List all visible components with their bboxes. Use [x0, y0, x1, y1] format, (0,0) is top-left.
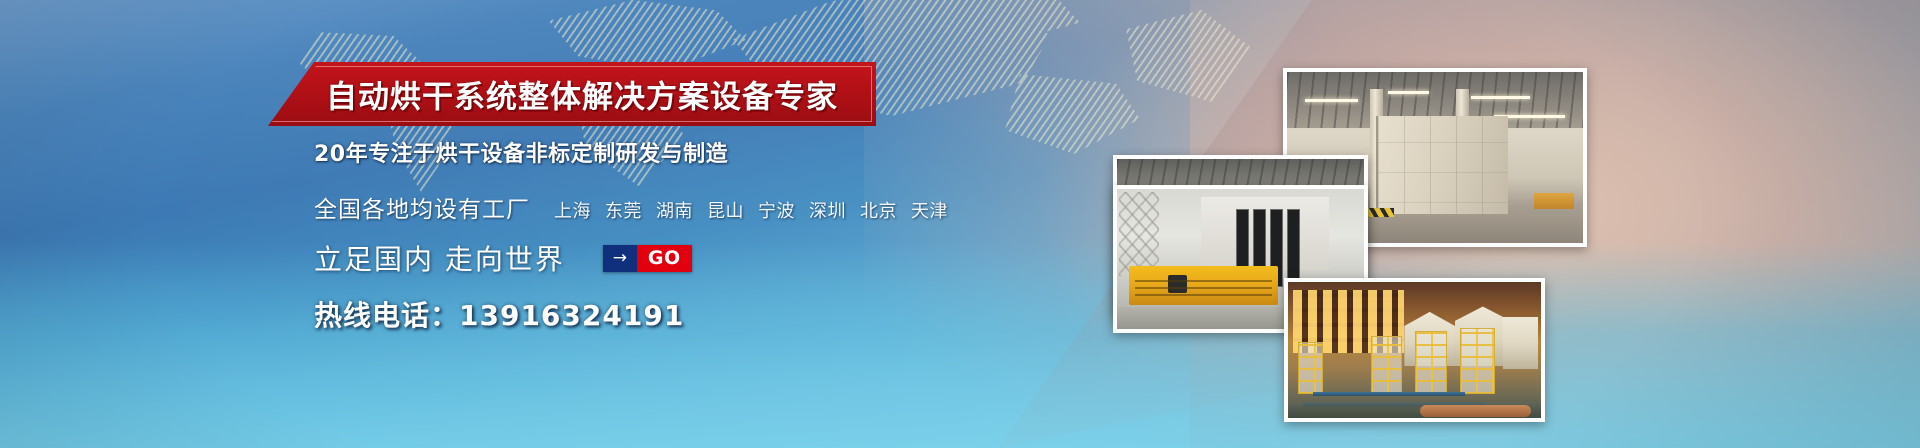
city-item: 北京	[860, 197, 897, 223]
photo-production-line	[1284, 278, 1545, 422]
photo-detail-cage	[1415, 331, 1448, 394]
city-item: 天津	[911, 197, 948, 223]
city-item: 宁波	[758, 197, 795, 223]
go-button[interactable]: → GO	[603, 245, 692, 272]
photo-detail-lamp	[1388, 91, 1429, 94]
photo-detail-cart-panel	[1168, 275, 1187, 293]
subheadline-text: 20年专注于烘干设备非标定制研发与制造	[314, 136, 1034, 168]
city-item: 湖南	[656, 197, 693, 223]
factories-title: 全国各地均设有工厂	[314, 190, 530, 224]
photo-frame	[1288, 282, 1541, 418]
city-item: 昆山	[707, 197, 744, 223]
photo-detail-hood	[1503, 317, 1538, 369]
photo-detail-cage	[1371, 336, 1401, 393]
factories-row: 全国各地均设有工厂 上海 东莞 湖南 昆山 宁波 深圳 北京 天津	[314, 190, 1034, 224]
photo-detail-cage	[1460, 328, 1495, 393]
photo-detail-truss	[1119, 192, 1159, 276]
slogan-text: 立足国内 走向世界	[314, 238, 565, 278]
headline-text: 自动烘干系统整体解决方案设备专家	[326, 72, 838, 117]
photo-detail-crane	[1534, 193, 1574, 209]
city-item: 东莞	[605, 197, 642, 223]
hotline-text: 热线电话：13916324191	[314, 294, 1034, 334]
city-item: 深圳	[809, 197, 846, 223]
headline-ribbon: 自动烘干系统整体解决方案设备专家	[268, 62, 876, 126]
go-button-label: GO	[637, 245, 692, 272]
photo-detail-rail	[1313, 392, 1465, 396]
city-item: 上海	[554, 197, 591, 223]
photo-detail-lamp	[1305, 99, 1358, 102]
city-list: 上海 东莞 湖南 昆山 宁波 深圳 北京 天津	[554, 197, 948, 223]
text-column: 20年专注于烘干设备非标定制研发与制造 全国各地均设有工厂 上海 东莞 湖南 昆…	[314, 136, 1034, 334]
slogan-row: 立足国内 走向世界 → GO	[314, 238, 1034, 278]
photo-detail-door	[1287, 209, 1300, 287]
photo-detail-pipe	[1420, 405, 1531, 417]
photo-detail-cage	[1298, 342, 1323, 394]
photo-detail-lamp	[1471, 96, 1530, 99]
photo-detail-yellow-cart	[1129, 266, 1277, 305]
promo-banner: 自动烘干系统整体解决方案设备专家 20年专注于烘干设备非标定制研发与制造 全国各…	[0, 0, 1920, 448]
arrow-right-icon: →	[603, 245, 637, 272]
